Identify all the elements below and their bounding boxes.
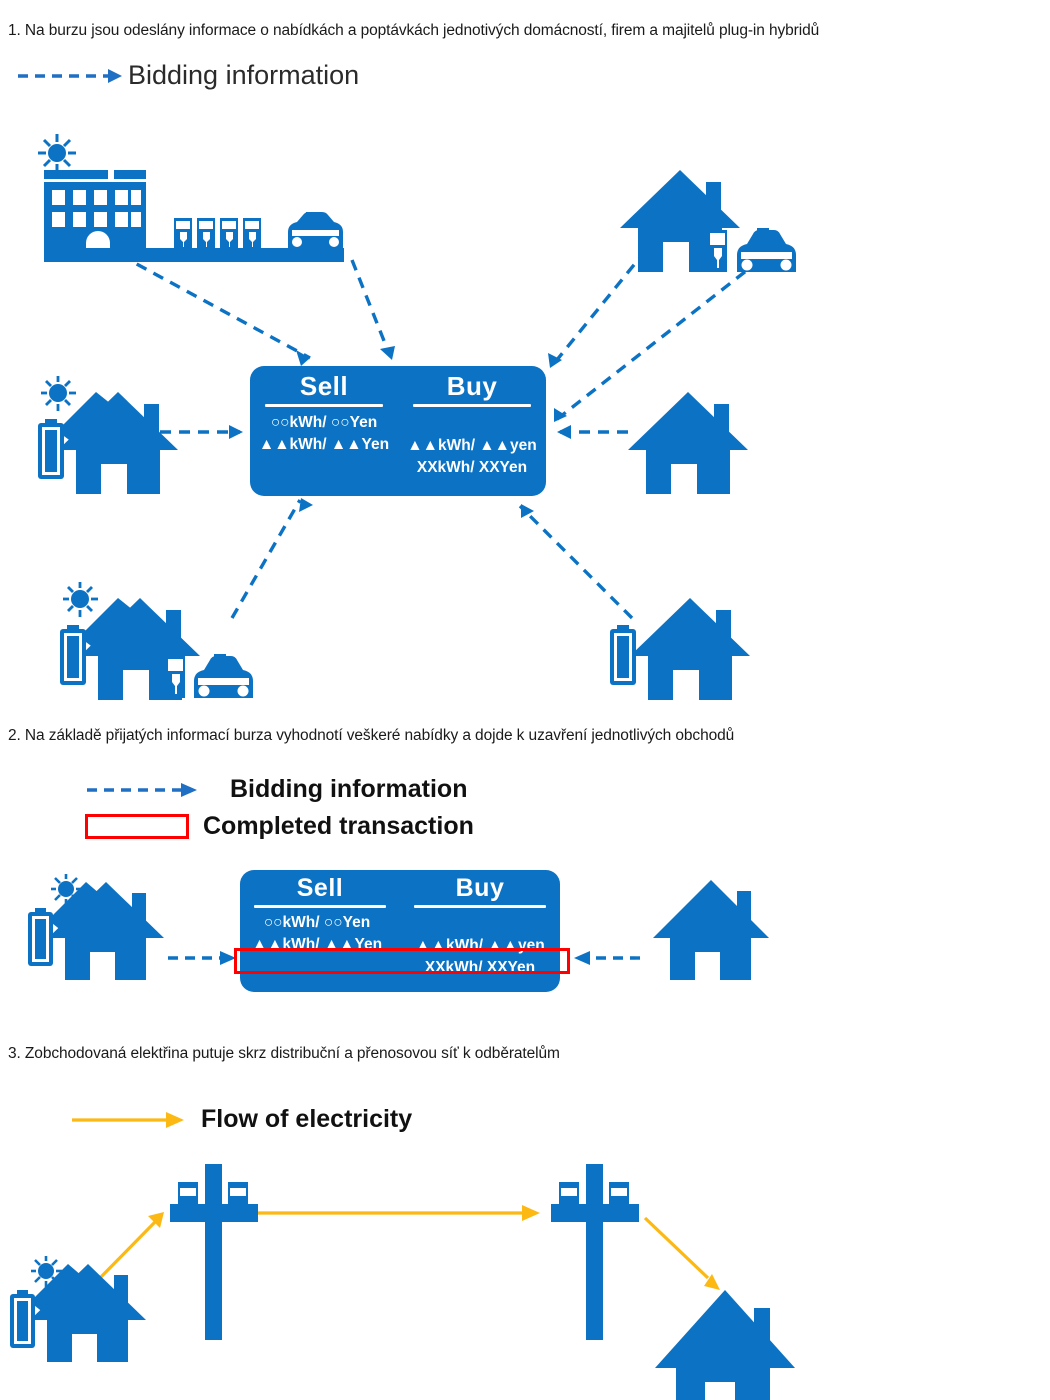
- arrowhead-5: [229, 425, 243, 439]
- house-with-ev-charger-and-car-icon: [620, 170, 796, 272]
- arrow-car-to-board: [556, 260, 760, 420]
- utility-pole-right-icon: [551, 1164, 639, 1340]
- legend-2-transaction-label: Completed transaction: [203, 812, 474, 841]
- board-1-buy-heading: Buy: [447, 371, 498, 402]
- plain-house-icon: [653, 880, 769, 980]
- legend-2-completed-transaction: Completed transaction: [85, 812, 474, 841]
- board-1-sell-rule: [265, 404, 383, 407]
- solar-house-with-battery-icon: [28, 874, 164, 980]
- dashed-arrow-icon: [85, 776, 203, 804]
- arrow-right-house-to-board: [574, 951, 640, 965]
- board-2-buy-heading: Buy: [456, 874, 505, 903]
- plain-house-icon: [628, 392, 748, 494]
- arrowhead-6: [557, 425, 571, 439]
- arrow-left-house-to-board: [168, 951, 236, 965]
- arrow-building-to-board: [120, 255, 310, 358]
- step-3-text: 3. Zobchodovaná elektřina putuje skrz di…: [8, 1045, 560, 1063]
- legend-2-bidding-label: Bidding information: [230, 775, 467, 804]
- legend-1-bidding-information: Bidding information: [16, 60, 359, 91]
- dashed-arrow-icon: [16, 61, 128, 91]
- board-2-buy-line-1: ▲▲kWh/ ▲▲yen: [415, 937, 544, 955]
- flow-arrow-pole-to-pole: [258, 1205, 540, 1221]
- board-2-buy-column: Buy ▲▲kWh/ ▲▲yen XXkWh/ XXYen: [400, 870, 560, 992]
- house-with-battery-icon: [610, 598, 750, 700]
- board-2-buy-rule: [414, 905, 546, 908]
- flow-arrow-house-to-pole: [98, 1212, 164, 1280]
- arrow-solar-car-house-to-board: [232, 500, 300, 618]
- red-rectangle-icon: [85, 814, 189, 839]
- house-consumer-icon: [655, 1290, 795, 1400]
- electric-car-icon: [288, 212, 343, 248]
- board-1-buy-column: Buy ▲▲kWh/ ▲▲yen XXkWh/ XXYen: [398, 366, 546, 496]
- utility-pole-left-icon: [170, 1164, 258, 1340]
- exchange-board-1: Sell ○○kWh/ ○○Yen ▲▲kWh/ ▲▲Yen Buy ▲▲kWh…: [250, 366, 546, 496]
- board-2-sell-column: Sell ○○kWh/ ○○Yen ▲▲kWh/ ▲▲Yen: [240, 870, 400, 992]
- board-1-sell-line-1: ○○kWh/ ○○Yen: [271, 414, 377, 432]
- board-2-sell-heading: Sell: [297, 874, 343, 903]
- board-2-sell-rule: [254, 905, 386, 908]
- legend-3-flow-of-electricity: Flow of electricity: [70, 1105, 412, 1134]
- office-building-with-solar-and-ev-chargers-icon: [38, 134, 344, 262]
- arrow-chargers-to-board: [352, 260, 390, 356]
- arrowhead-4: [554, 408, 567, 422]
- arrow-battery-house-to-board: [520, 506, 632, 618]
- exchange-board-2: Sell ○○kWh/ ○○Yen ▲▲kWh/ ▲▲Yen Buy ▲▲kWh…: [240, 870, 560, 992]
- legend-3-label: Flow of electricity: [201, 1105, 412, 1134]
- arrow-house-ev-to-board: [552, 250, 646, 366]
- solid-arrow-icon: [70, 1106, 185, 1134]
- diagram-3-artwork: [0, 1150, 900, 1400]
- board-1-sell-heading: Sell: [300, 371, 348, 402]
- board-1-buy-line-2: XXkWh/ XXYen: [417, 459, 527, 477]
- board-2-buy-line-2: XXkWh/ XXYen: [425, 959, 535, 977]
- board-1-sell-column: Sell ○○kWh/ ○○Yen ▲▲kWh/ ▲▲Yen: [250, 366, 398, 496]
- board-1-buy-rule: [413, 404, 531, 407]
- legend-1-label: Bidding information: [128, 60, 359, 91]
- arrowhead-1: [296, 350, 310, 366]
- board-2-sell-line-1: ○○kWh/ ○○Yen: [264, 914, 370, 932]
- solar-house-with-battery-charger-and-car-icon: [60, 582, 253, 700]
- step-2-text: 2. Na základě přijatých informací burza …: [8, 727, 734, 745]
- solar-house-with-battery-icon: [10, 1256, 146, 1362]
- board-2-sell-line-2: ▲▲kWh/ ▲▲Yen: [252, 936, 382, 954]
- board-1-buy-line-1: ▲▲kWh/ ▲▲yen: [407, 437, 536, 455]
- arrowhead-2: [380, 346, 395, 360]
- board-1-sell-line-2: ▲▲kWh/ ▲▲Yen: [259, 436, 389, 454]
- legend-2-bidding-information: Bidding information: [85, 775, 467, 804]
- step-1-text: 1. Na burzu jsou odeslány informace o na…: [8, 22, 819, 40]
- ev-charger-row-icon: [174, 218, 261, 248]
- flow-arrow-pole-to-house: [645, 1218, 720, 1290]
- arrowhead-7: [299, 498, 313, 512]
